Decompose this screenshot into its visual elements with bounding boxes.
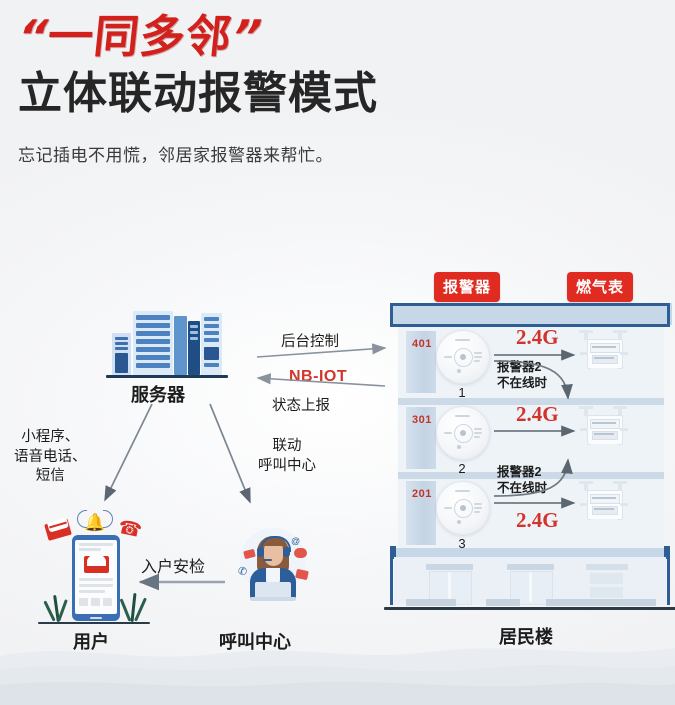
building-caption: 居民楼: [499, 623, 553, 649]
user-caption: 用户: [73, 628, 109, 654]
page-title-quoted: “一同多邻”: [16, 14, 661, 59]
phone-handset-icon: ☎: [116, 516, 144, 543]
link-label-24g-floor-301: 2.4G: [516, 402, 559, 427]
branch-label-right: 联动 呼叫中心: [258, 437, 316, 476]
link-label-24g-floor-201: 2.4G: [516, 508, 559, 533]
alarm-device-1-icon: [436, 330, 490, 384]
arrow-server-to-user: [105, 404, 152, 500]
link-label-nbiot: NB-IOT: [289, 368, 347, 386]
page-subtitle: 立体联动报警模式: [18, 71, 658, 117]
link-label-status-report: 状态上报: [272, 397, 330, 417]
call-center-caption: 呼叫中心: [219, 628, 291, 654]
poster-canvas: “一同多邻” 立体联动报警模式 忘记插电不用慌，邻居家报警器来帮忙。: [0, 0, 675, 705]
inspection-arrow-label: 入户安检: [141, 557, 205, 579]
offline-note-floor-201: 报警器2 不在线时: [497, 465, 547, 496]
offline-note-floor-401: 报警器2 不在线时: [497, 360, 547, 391]
link-label-24g-floor-401: 2.4G: [516, 325, 559, 350]
quote-close: ”: [229, 10, 265, 63]
headset-operator-icon: ✆ @: [238, 528, 308, 610]
server-rack-icon: [112, 307, 222, 377]
grass-left-icon: [46, 595, 68, 622]
user-ground-line: [38, 622, 150, 624]
floor-number-201: 201: [412, 488, 432, 500]
badge-gas-meter: 燃气表: [567, 272, 633, 302]
arrow-server-to-call-center: [210, 404, 250, 502]
envelope-icon: [46, 521, 70, 538]
page-tagline: 忘记插电不用慌，邻居家报警器来帮忙。: [18, 141, 658, 166]
smartphone-icon: [72, 535, 120, 621]
header-block: “一同多邻” 立体联动报警模式 忘记插电不用慌，邻居家报警器来帮忙。: [18, 14, 658, 166]
alarm-device-3-number: 3: [452, 536, 472, 551]
building-ground-line: [384, 607, 675, 610]
link-label-backend-control: 后台控制: [281, 333, 339, 353]
alarm-device-1-number: 1: [452, 385, 472, 400]
grass-right-icon: [122, 593, 146, 622]
alarm-device-2-icon: [436, 406, 490, 460]
branch-label-left: 小程序、 语音电话、 短信: [14, 428, 87, 487]
page-title-core: 一同多邻: [45, 11, 234, 62]
floor-number-401: 401: [412, 338, 432, 350]
gas-meter-3-icon: [578, 479, 632, 533]
server-caption: 服务器: [131, 381, 185, 407]
alarm-device-2-number: 2: [452, 461, 472, 476]
gas-meter-1-icon: [578, 328, 632, 382]
floor-number-301: 301: [412, 414, 432, 426]
gas-meter-2-icon: [578, 404, 632, 458]
alarm-device-3-icon: [436, 481, 490, 535]
badge-alarm: 报警器: [434, 272, 500, 302]
bell-wave-icon: [77, 508, 113, 530]
